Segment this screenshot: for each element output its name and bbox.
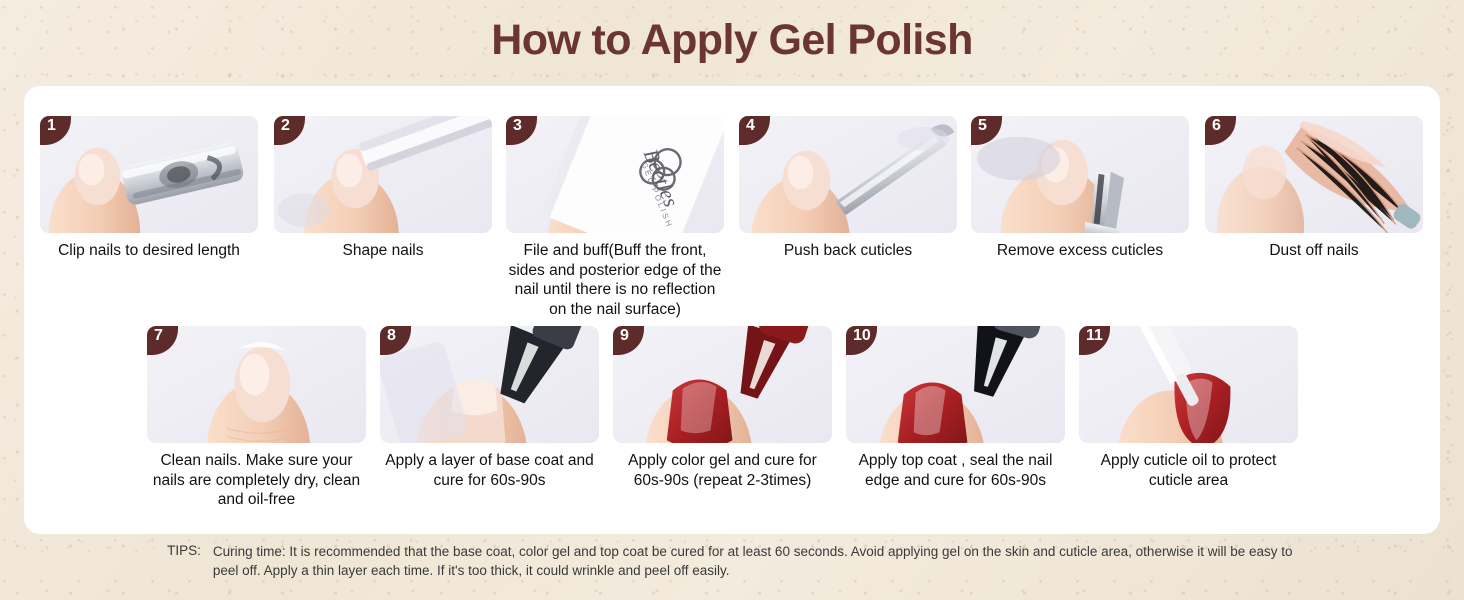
step-1: 1Clip nails to desired length (40, 116, 258, 261)
steps-card: 1Clip nails to desired length 2Shape nai… (24, 86, 1440, 534)
step-5: 5Remove excess cuticles (971, 116, 1189, 261)
step-6-image: 6 (1205, 116, 1423, 233)
step-10: 10Apply top coat , seal the nail edge an… (846, 326, 1065, 490)
step-4-image: 4 (739, 116, 957, 233)
step-11: 11Apply cuticle oil to protect cuticle a… (1079, 326, 1298, 490)
step-2: 2Shape nails (274, 116, 492, 261)
step-3: Beetles GEL POLISH3File and buff(Buff th… (506, 116, 724, 320)
step-4-caption: Push back cuticles (739, 241, 957, 261)
step-8: 8Apply a layer of base coat and cure for… (380, 326, 599, 490)
infographic-page: How to Apply Gel Polish 1Clip (0, 0, 1464, 600)
step-11-image: 11 (1079, 326, 1298, 443)
step-10-caption: Apply top coat , seal the nail edge and … (846, 451, 1065, 490)
step-3-caption: File and buff(Buff the front, sides and … (506, 241, 724, 320)
step-11-caption: Apply cuticle oil to protect cuticle are… (1079, 451, 1298, 490)
step-2-caption: Shape nails (274, 241, 492, 261)
step-4: 4Push back cuticles (739, 116, 957, 261)
step-9: 9Apply color gel and cure for 60s-90s (r… (613, 326, 832, 490)
step-5-image: 5 (971, 116, 1189, 233)
step-3-image: Beetles GEL POLISH3 (506, 116, 724, 233)
step-2-image: 2 (274, 116, 492, 233)
step-7-caption: Clean nails. Make sure your nails are co… (147, 451, 366, 510)
step-7: 7Clean nails. Make sure your nails are c… (147, 326, 366, 510)
step-8-image: 8 (380, 326, 599, 443)
step-1-caption: Clip nails to desired length (40, 241, 258, 261)
step-9-image: 9 (613, 326, 832, 443)
step-9-caption: Apply color gel and cure for 60s-90s (re… (613, 451, 832, 490)
tips-body: Curing time: It is recommended that the … (213, 542, 1297, 580)
page-title: How to Apply Gel Polish (0, 16, 1464, 65)
step-7-image: 7 (147, 326, 366, 443)
tips-label: TIPS: (167, 542, 213, 558)
step-5-caption: Remove excess cuticles (971, 241, 1189, 261)
step-1-image: 1 (40, 116, 258, 233)
step-8-caption: Apply a layer of base coat and cure for … (380, 451, 599, 490)
tips-row: TIPS: Curing time: It is recommended tha… (0, 542, 1464, 580)
step-6: 6Dust off nails (1205, 116, 1423, 261)
step-6-caption: Dust off nails (1205, 241, 1423, 261)
step-10-image: 10 (846, 326, 1065, 443)
